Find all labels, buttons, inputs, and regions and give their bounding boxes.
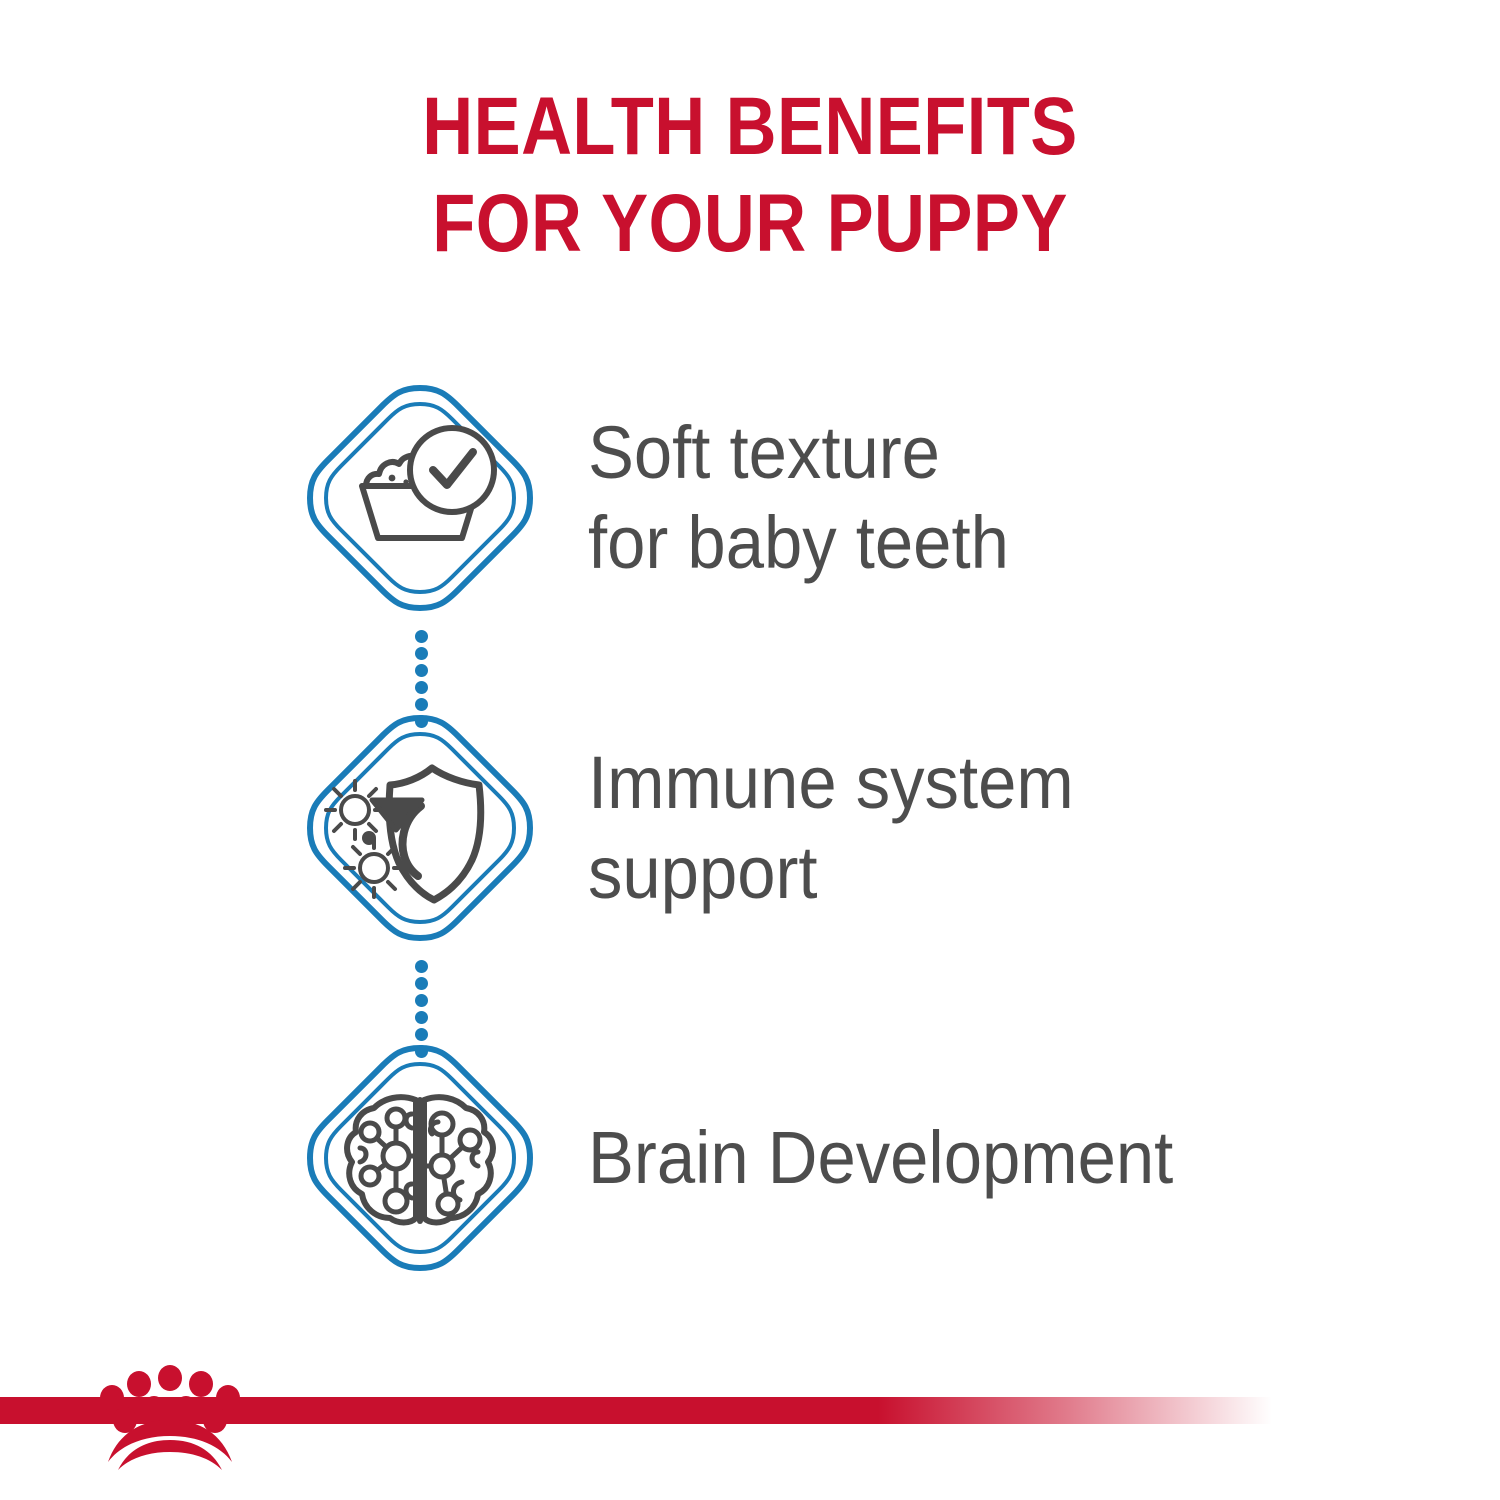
- food-bowl-check-icon: [300, 378, 540, 618]
- royal-canin-crown-logo: [96, 1360, 246, 1470]
- connector-dot: [415, 715, 428, 728]
- connector-dot: [415, 1011, 428, 1024]
- infographic-page: HEALTH BENEFITS FOR YOUR PUPPY: [0, 0, 1500, 1500]
- connector-dots-2: [414, 960, 428, 1058]
- connector-dot: [415, 630, 428, 643]
- connector-dot: [415, 698, 428, 711]
- connector-dot: [415, 977, 428, 990]
- connector-dot: [415, 664, 428, 677]
- brain-network-icon: [300, 1038, 540, 1278]
- connector-dot: [415, 647, 428, 660]
- page-title-line-2: FOR YOUR PUPPY: [105, 175, 1395, 272]
- connector-dot: [415, 681, 428, 694]
- benefit-item-immune-support: Immune system support: [0, 708, 1500, 948]
- benefit-label-immune-support: Immune system support: [588, 738, 1074, 918]
- connector-dots-1: [414, 630, 428, 728]
- benefit-item-soft-texture: Soft texture for baby teeth: [0, 378, 1500, 618]
- page-title-line-1: HEALTH BENEFITS: [105, 78, 1395, 175]
- connector-dot: [415, 1045, 428, 1058]
- footer: [0, 1340, 1500, 1500]
- shield-germs-icon: [300, 708, 540, 948]
- benefit-label-brain-development: Brain Development: [588, 1113, 1173, 1203]
- benefit-item-brain-development: Brain Development: [0, 1038, 1500, 1278]
- benefits-list: Soft texture for baby teeth: [0, 378, 1500, 1278]
- benefit-label-soft-texture: Soft texture for baby teeth: [588, 408, 1009, 588]
- page-title: HEALTH BENEFITS FOR YOUR PUPPY: [0, 78, 1500, 272]
- connector-dot: [415, 994, 428, 1007]
- connector-dot: [415, 960, 428, 973]
- connector-dot: [415, 1028, 428, 1041]
